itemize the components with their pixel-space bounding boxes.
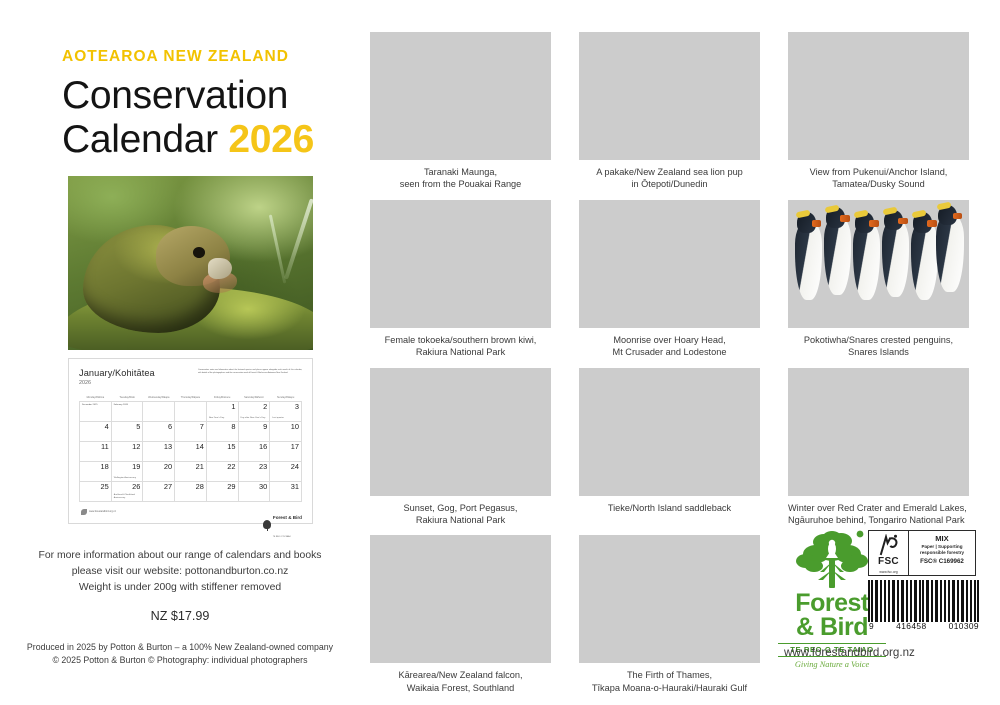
photo-taranaki (370, 32, 551, 160)
day-note: Wellington Anniversary (114, 477, 136, 480)
calendar-day-cell: 17 (270, 442, 302, 462)
day-note: Day after New Year's Day (241, 417, 266, 420)
calendar-day-cell: 3Last quarter (270, 402, 302, 422)
caption-line-2: in Ōtepoti/Dunedin (631, 179, 707, 189)
tree-icon-svg (786, 528, 878, 590)
produced-line-1: Produced in 2025 by Potton & Burton – a … (27, 642, 333, 652)
day-number: 22 (207, 463, 236, 470)
photo-cell-taranaki: Taranaki Maunga, seen from the Pouakai R… (370, 32, 551, 191)
day-number: 13 (143, 443, 172, 450)
day-number: 23 (239, 463, 268, 470)
calendar-week-row: 18 19Wellington Anniversary 20 21 22 23 … (80, 462, 302, 482)
barcode-group-1: 416458 (896, 621, 926, 631)
footer-logo-name: Forest & Bird (273, 515, 302, 520)
photo-caption: A pakake/New Zealand sea lion pup in Ōte… (579, 166, 760, 191)
fsc-url-text: www.fsc.org (869, 570, 908, 574)
kakapo-beak (208, 258, 233, 279)
calendar-day-cell: 31 (270, 482, 302, 502)
day-number: 17 (270, 443, 299, 450)
calendar-preview-footer: www.forestandbird.org.nz Forest & Bird T… (79, 505, 302, 521)
mini-month-next: February 2026 (114, 404, 128, 407)
mini-month-prev: December 2025 (82, 404, 98, 407)
calendar-day-cell: 20 (143, 462, 175, 482)
photo-row: Sunset, Gog, Port Pegasus, Rakiura Natio… (370, 368, 970, 527)
calendar-day-cell: 16 (238, 442, 270, 462)
caption-line-2: Ngāuruhoe behind, Tongariro National Par… (788, 515, 965, 525)
caption-line-2: Waikaia Forest, Southland (407, 683, 514, 693)
calendar-footer-url: www.forestandbird.org.nz (89, 510, 116, 513)
calendar-day-cell: 12 (111, 442, 143, 462)
production-credits: Produced in 2025 by Potton & Burton – a … (0, 641, 360, 666)
photo-cell-tokoeka-kiwi: Female tokoeka/southern brown kiwi, Raki… (370, 200, 551, 359)
day-number: 19 (112, 463, 141, 470)
photo-caption: Moonrise over Hoary Head, Mt Crusader an… (579, 334, 760, 359)
crest (912, 209, 927, 217)
penguin (882, 218, 909, 297)
photo-caption: Kārearea/New Zealand falcon, Waikaia For… (370, 669, 551, 694)
day-number: 12 (112, 443, 141, 450)
day-number: 24 (270, 463, 299, 470)
caption-line-1: Kārearea/New Zealand falcon, (398, 670, 522, 680)
day-number: 7 (175, 423, 204, 430)
calendar-day-cell: 15 (206, 442, 238, 462)
caption-line-2: Snares Islands (848, 347, 909, 357)
calendar-day-cell: February 2026 (111, 402, 143, 422)
caption-line-1: A pakake/New Zealand sea lion pup (596, 167, 743, 177)
calendar-day-cell: 30 (238, 482, 270, 502)
day-number: 16 (239, 443, 268, 450)
day-number: 3 (270, 403, 299, 410)
calendar-day-cell: December 2025 (80, 402, 112, 422)
day-number: 1 (207, 403, 236, 410)
calendar-day-cell: 23 (238, 462, 270, 482)
caption-line-1: Moonrise over Hoary Head, (613, 335, 725, 345)
day-number: 27 (143, 483, 172, 490)
photo-cell-karearea-falcon: Kārearea/New Zealand falcon, Waikaia For… (370, 535, 551, 694)
caption-line-2: Tamatea/Dusky Sound (832, 179, 924, 189)
calendar-week-row: 4 5 6 7 8 9 10 (80, 422, 302, 442)
caption-line-1: Pokotiwha/Snares crested penguins, (804, 335, 953, 345)
calendar-month-preview: January/Kohitātea 2026 Conservation note… (68, 358, 313, 524)
leaf-icon (81, 509, 87, 515)
day-number: 6 (143, 423, 172, 430)
calendar-day-cell: 1New Year's Day (206, 402, 238, 422)
logo-tagline: Giving Nature a Voice (778, 660, 886, 669)
photo-row: Female tokoeka/southern brown kiwi, Raki… (370, 200, 970, 359)
day-number: 14 (175, 443, 204, 450)
photo-cell-sea-lion: A pakake/New Zealand sea lion pup in Ōte… (579, 32, 760, 191)
price-label: NZ $17.99 (0, 609, 360, 623)
day-number: 9 (239, 423, 268, 430)
produced-line-2: © 2025 Potton & Burton © Photography: in… (52, 655, 307, 665)
penguin (795, 220, 822, 299)
fsc-certification-label: FSC www.fsc.org MIX Paper | Supporting r… (868, 530, 976, 576)
calendar-day-cell (175, 402, 207, 422)
calendar-preview-header: January/Kohitātea 2026 Conservation note… (79, 368, 302, 394)
calendar-day-cell: 19Wellington Anniversary (111, 462, 143, 482)
tree-icon (263, 520, 271, 529)
day-number: 11 (80, 443, 109, 450)
crest (883, 207, 898, 215)
caption-line-1: Sunset, Gog, Port Pegasus, (404, 503, 518, 513)
photo-caption: Winter over Red Crater and Emerald Lakes… (788, 502, 969, 527)
title-line-2: Calendar (62, 118, 218, 161)
info-line-2: please visit our website: pottonandburto… (0, 564, 360, 580)
photo-cell-red-crater-winter: Winter over Red Crater and Emerald Lakes… (788, 368, 969, 527)
day-number: 2 (239, 403, 268, 410)
calendar-day-cell: 9 (238, 422, 270, 442)
title-year: 2026 (228, 118, 314, 161)
day-number: 25 (80, 483, 109, 490)
calendar-day-cell: 18 (80, 462, 112, 482)
calendar-day-cell: 4 (80, 422, 112, 442)
footer-logo-sub: TE REO O TE TAIAO (273, 536, 291, 538)
barcode-lead-digit: 9 (869, 621, 874, 631)
crest (854, 209, 869, 217)
barcode: 9 416458 010309 (868, 580, 980, 632)
day-number: 5 (112, 423, 141, 430)
info-text-block: For more information about our range of … (0, 548, 360, 666)
day-number: 18 (80, 463, 109, 470)
photo-gog-port-pegasus (370, 368, 551, 496)
fsc-mix-label: MIX (912, 534, 972, 543)
barcode-group-2: 010309 (949, 621, 979, 631)
caption-line-2: seen from the Pouakai Range (400, 179, 522, 189)
photo-sea-lion (579, 32, 760, 160)
photo-cell-firth-of-thames: The Firth of Thames, Tīkapa Moana-o-Haur… (579, 535, 760, 694)
calendar-day-cell: 14 (175, 442, 207, 462)
photo-caption: View from Pukenui/Anchor Island, Tamatea… (788, 166, 969, 191)
calendar-day-cell: 5 (111, 422, 143, 442)
penguin (824, 215, 851, 294)
calendar-day-cell: 24 (270, 462, 302, 482)
calendar-week-row: December 2025 February 2026 1New Year's … (80, 402, 302, 422)
photo-tieke (579, 368, 760, 496)
caption-line-1: View from Pukenui/Anchor Island, (810, 167, 948, 177)
caption-line-1: Winter over Red Crater and Emerald Lakes… (788, 503, 967, 513)
calendar-back-cover: AOTEAROA NEW ZEALAND Conservation Calend… (0, 0, 1000, 705)
calendar-day-cell: 7 (175, 422, 207, 442)
barcode-digits: 9 416458 010309 (868, 621, 980, 631)
calendar-day-cell: 11 (80, 442, 112, 462)
photo-row: Taranaki Maunga, seen from the Pouakai R… (370, 32, 970, 191)
photo-dusky-sound (788, 32, 969, 160)
calendar-day-cell: 28 (175, 482, 207, 502)
tree-icon (786, 528, 878, 590)
photo-tokoeka-kiwi (370, 200, 551, 328)
photo-cell-hoary-head-moonrise: Moonrise over Hoary Head, Mt Crusader an… (579, 200, 760, 359)
photo-snares-penguins (788, 200, 969, 328)
kicker-text: AOTEAROA NEW ZEALAND (62, 48, 352, 65)
caption-line-2: Tīkapa Moana-o-Hauraki/Hauraki Gulf (592, 683, 747, 693)
calendar-day-cell: 26Auckland & Northland Anniversary (111, 482, 143, 502)
photo-cell-dusky-sound: View from Pukenui/Anchor Island, Tamatea… (788, 32, 969, 191)
barcode-bars (868, 580, 980, 622)
caption-line-1: Taranaki Maunga, (424, 167, 497, 177)
title-block: AOTEAROA NEW ZEALAND Conservation Calend… (62, 48, 352, 161)
day-number: 21 (175, 463, 204, 470)
fsc-mark: FSC www.fsc.org (869, 531, 909, 575)
photo-karearea-falcon (370, 535, 551, 663)
calendar-day-cell: 2Day after New Year's Day (238, 402, 270, 422)
caption-line-1: Tieke/North Island saddleback (608, 503, 731, 513)
photo-cell-snares-penguins: Pokotiwha/Snares crested penguins, Snare… (788, 200, 969, 359)
day-number: 29 (207, 483, 236, 490)
calendar-day-cell: 8 (206, 422, 238, 442)
penguin (911, 220, 938, 299)
fsc-label-text: FSC (869, 556, 908, 567)
logo-name-line-2: & Bird (796, 613, 868, 641)
calendar-footer-logo: Forest & Bird TE REO O TE TAIAO (263, 506, 302, 542)
penguin (853, 220, 880, 299)
day-note: Last quarter (272, 417, 284, 420)
day-number: 15 (207, 443, 236, 450)
fsc-description: Paper | Supporting responsible forestry (912, 544, 972, 556)
photo-caption: Female tokoeka/southern brown kiwi, Raki… (370, 334, 551, 359)
photo-caption: Pokotiwha/Snares crested penguins, Snare… (788, 334, 969, 359)
calendar-day-cell (143, 402, 175, 422)
caption-line-1: Female tokoeka/southern brown kiwi, (385, 335, 537, 345)
photo-red-crater-winter (788, 368, 969, 496)
brand-area: Forest & Bird TE REO O TE TAIAO Giving N… (770, 528, 985, 678)
photo-caption: The Firth of Thames, Tīkapa Moana-o-Haur… (579, 669, 760, 694)
day-number: 8 (207, 423, 236, 430)
photo-hoary-head-moonrise (579, 200, 760, 328)
calendar-day-cell: 13 (143, 442, 175, 462)
crest (825, 204, 840, 212)
title-line-1: Conservation (62, 74, 288, 117)
day-number: 30 (239, 483, 268, 490)
day-number: 20 (143, 463, 172, 470)
photo-caption: Taranaki Maunga, seen from the Pouakai R… (370, 166, 551, 191)
caption-line-2: Mt Crusader and Lodestone (613, 347, 727, 357)
calendar-day-cell: 25 (80, 482, 112, 502)
penguin (936, 213, 963, 292)
day-note: Auckland & Northland Anniversary (114, 494, 143, 500)
fsc-tree-icon (878, 534, 900, 558)
hero-photo-kakapo (68, 176, 313, 350)
info-line-3: Weight is under 200g with stiffener remo… (0, 580, 360, 596)
day-number: 4 (80, 423, 109, 430)
day-number: 26 (112, 483, 141, 490)
forest-and-bird-website: www.forestandbird.org.nz (784, 646, 915, 659)
day-note: New Year's Day (209, 417, 224, 420)
calendar-day-cell: 22 (206, 462, 238, 482)
calendar-day-cell: 6 (143, 422, 175, 442)
calendar-day-cell: 29 (206, 482, 238, 502)
photo-caption: Tieke/North Island saddleback (579, 502, 760, 514)
calendar-day-cell: 27 (143, 482, 175, 502)
day-number: 10 (270, 423, 299, 430)
calendar-blurb-text: Conservation notes and information about… (198, 369, 302, 374)
photo-cell-tieke: Tieke/North Island saddleback (579, 368, 760, 527)
calendar-day-cell: 21 (175, 462, 207, 482)
caption-line-2: Rakiura National Park (416, 515, 505, 525)
day-number: 31 (270, 483, 299, 490)
crest (796, 209, 811, 217)
calendar-week-row: 25 26Auckland & Northland Anniversary 27… (80, 482, 302, 502)
calendar-grid: Monday/Rāhina Tuesday/Rātū Wednesday/Rāa… (79, 396, 302, 502)
crest (937, 202, 952, 210)
photo-firth-of-thames (579, 535, 760, 663)
fsc-code: FSC® C169962 (912, 558, 972, 565)
caption-line-2: Rakiura National Park (416, 347, 505, 357)
day-number: 28 (175, 483, 204, 490)
calendar-year-label: 2026 (79, 380, 302, 386)
photo-caption: Sunset, Gog, Port Pegasus, Rakiura Natio… (370, 502, 551, 527)
page-title: Conservation Calendar 2026 (62, 74, 352, 161)
fsc-details: MIX Paper | Supporting responsible fores… (909, 531, 975, 575)
calendar-day-cell: 10 (270, 422, 302, 442)
caption-line-1: The Firth of Thames, (627, 670, 712, 680)
left-panel: AOTEAROA NEW ZEALAND Conservation Calend… (0, 0, 360, 705)
calendar-week-row: 11 12 13 14 15 16 17 (80, 442, 302, 462)
info-line-1: For more information about our range of … (0, 548, 360, 564)
photo-cell-gog-port-pegasus: Sunset, Gog, Port Pegasus, Rakiura Natio… (370, 368, 551, 527)
